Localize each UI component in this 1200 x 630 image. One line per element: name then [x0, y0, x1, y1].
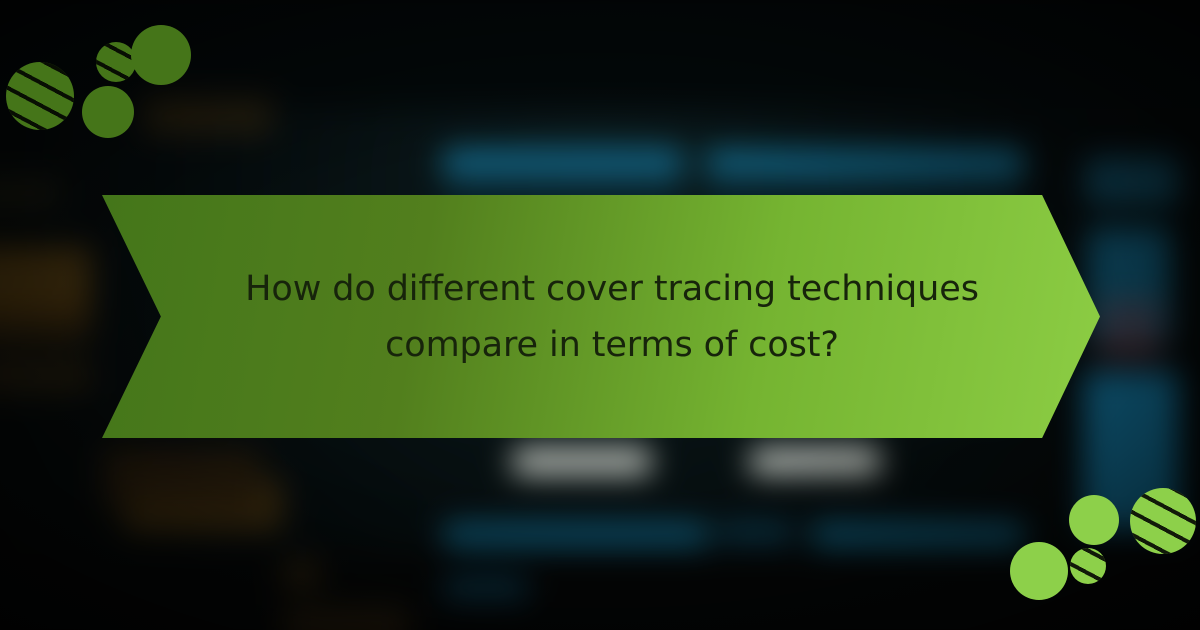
background-text-row-3: [812, 524, 1024, 547]
headline-line-1: How do different cover tracing technique…: [232, 261, 992, 317]
headline-text: How do different cover tracing technique…: [232, 261, 992, 373]
background-left-panel-1: [102, 447, 261, 511]
circle-striped-large: [1130, 488, 1196, 554]
background-amber-block-2: [0, 299, 91, 341]
circle-solid-large: [1010, 542, 1068, 600]
headline-ribbon: How do different cover tracing technique…: [102, 195, 1100, 438]
background-side-panel-3: [1098, 299, 1162, 363]
circle-striped-small: [96, 42, 136, 82]
background-left-panel-2: [282, 559, 320, 591]
background-button-right: [751, 447, 880, 475]
headline-line-2: compare in terms of cost?: [232, 317, 992, 373]
background-text-row-4: [443, 577, 528, 600]
background-card-header-left: [443, 149, 683, 179]
circle-solid-medium: [1069, 495, 1119, 545]
circle-striped-large: [6, 62, 74, 130]
background-card-header-right: [706, 149, 1024, 179]
background-amber-block-3: [0, 357, 91, 393]
background-amber-block-5: [144, 98, 271, 134]
banner-card: How do different cover tracing technique…: [0, 0, 1200, 630]
background-amber-block-7: [0, 177, 59, 209]
background-side-panel-1: [1085, 156, 1178, 205]
circle-solid-large: [131, 25, 191, 85]
circle-solid-medium: [82, 86, 134, 138]
background-button-left: [513, 447, 651, 475]
background-text-row-2: [719, 524, 793, 543]
background-amber-block-6: [282, 607, 409, 630]
background-text-row-1: [443, 524, 708, 547]
circle-striped-small: [1070, 548, 1106, 584]
